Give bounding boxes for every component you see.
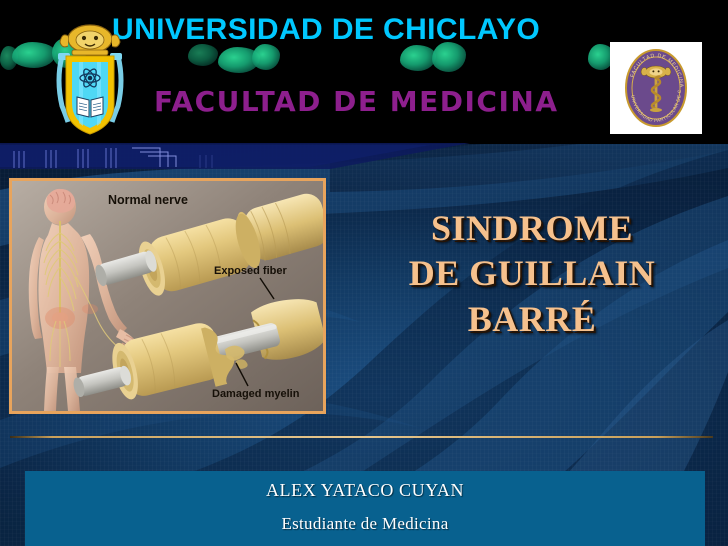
university-name: UNIVERSIDAD DE CHICLAYO (112, 13, 540, 47)
decorative-band (0, 143, 470, 169)
nerve-anatomy-illustration: Normal nerve Exposed fiber Damaged myeli… (9, 178, 326, 414)
faculty-of-medicine-seal-icon: FACULTAD DE MEDICINA UNIVERSIDAD PARTICU… (610, 42, 702, 134)
divider-rule (10, 436, 713, 438)
author-banner: ALEX YATACO CUYAN Estudiante de Medicina (25, 471, 705, 546)
title-line-3: BARRÉ (352, 297, 712, 342)
page-title: SINDROME DE GUILLAIN BARRÉ (352, 206, 712, 342)
decor-blob-icon (252, 44, 280, 70)
label-normal-nerve: Normal nerve (108, 193, 188, 207)
presentation-slide: UNIVERSIDAD DE CHICLAYO FACULTAD DE MEDI… (0, 0, 728, 546)
label-damaged-myelin: Damaged myelin (212, 388, 300, 400)
label-exposed-fiber: Exposed fiber (214, 265, 287, 277)
author-role: Estudiante de Medicina (281, 514, 448, 534)
title-line-1: SINDROME (352, 206, 712, 251)
title-line-2: DE GUILLAIN (352, 251, 712, 296)
author-name: ALEX YATACO CUYAN (266, 480, 464, 501)
decor-blob-icon (400, 45, 436, 71)
university-shield-icon (44, 22, 136, 138)
decor-blob-icon (188, 44, 218, 66)
faculty-name: FACULTAD DE MEDICINA (154, 85, 559, 118)
